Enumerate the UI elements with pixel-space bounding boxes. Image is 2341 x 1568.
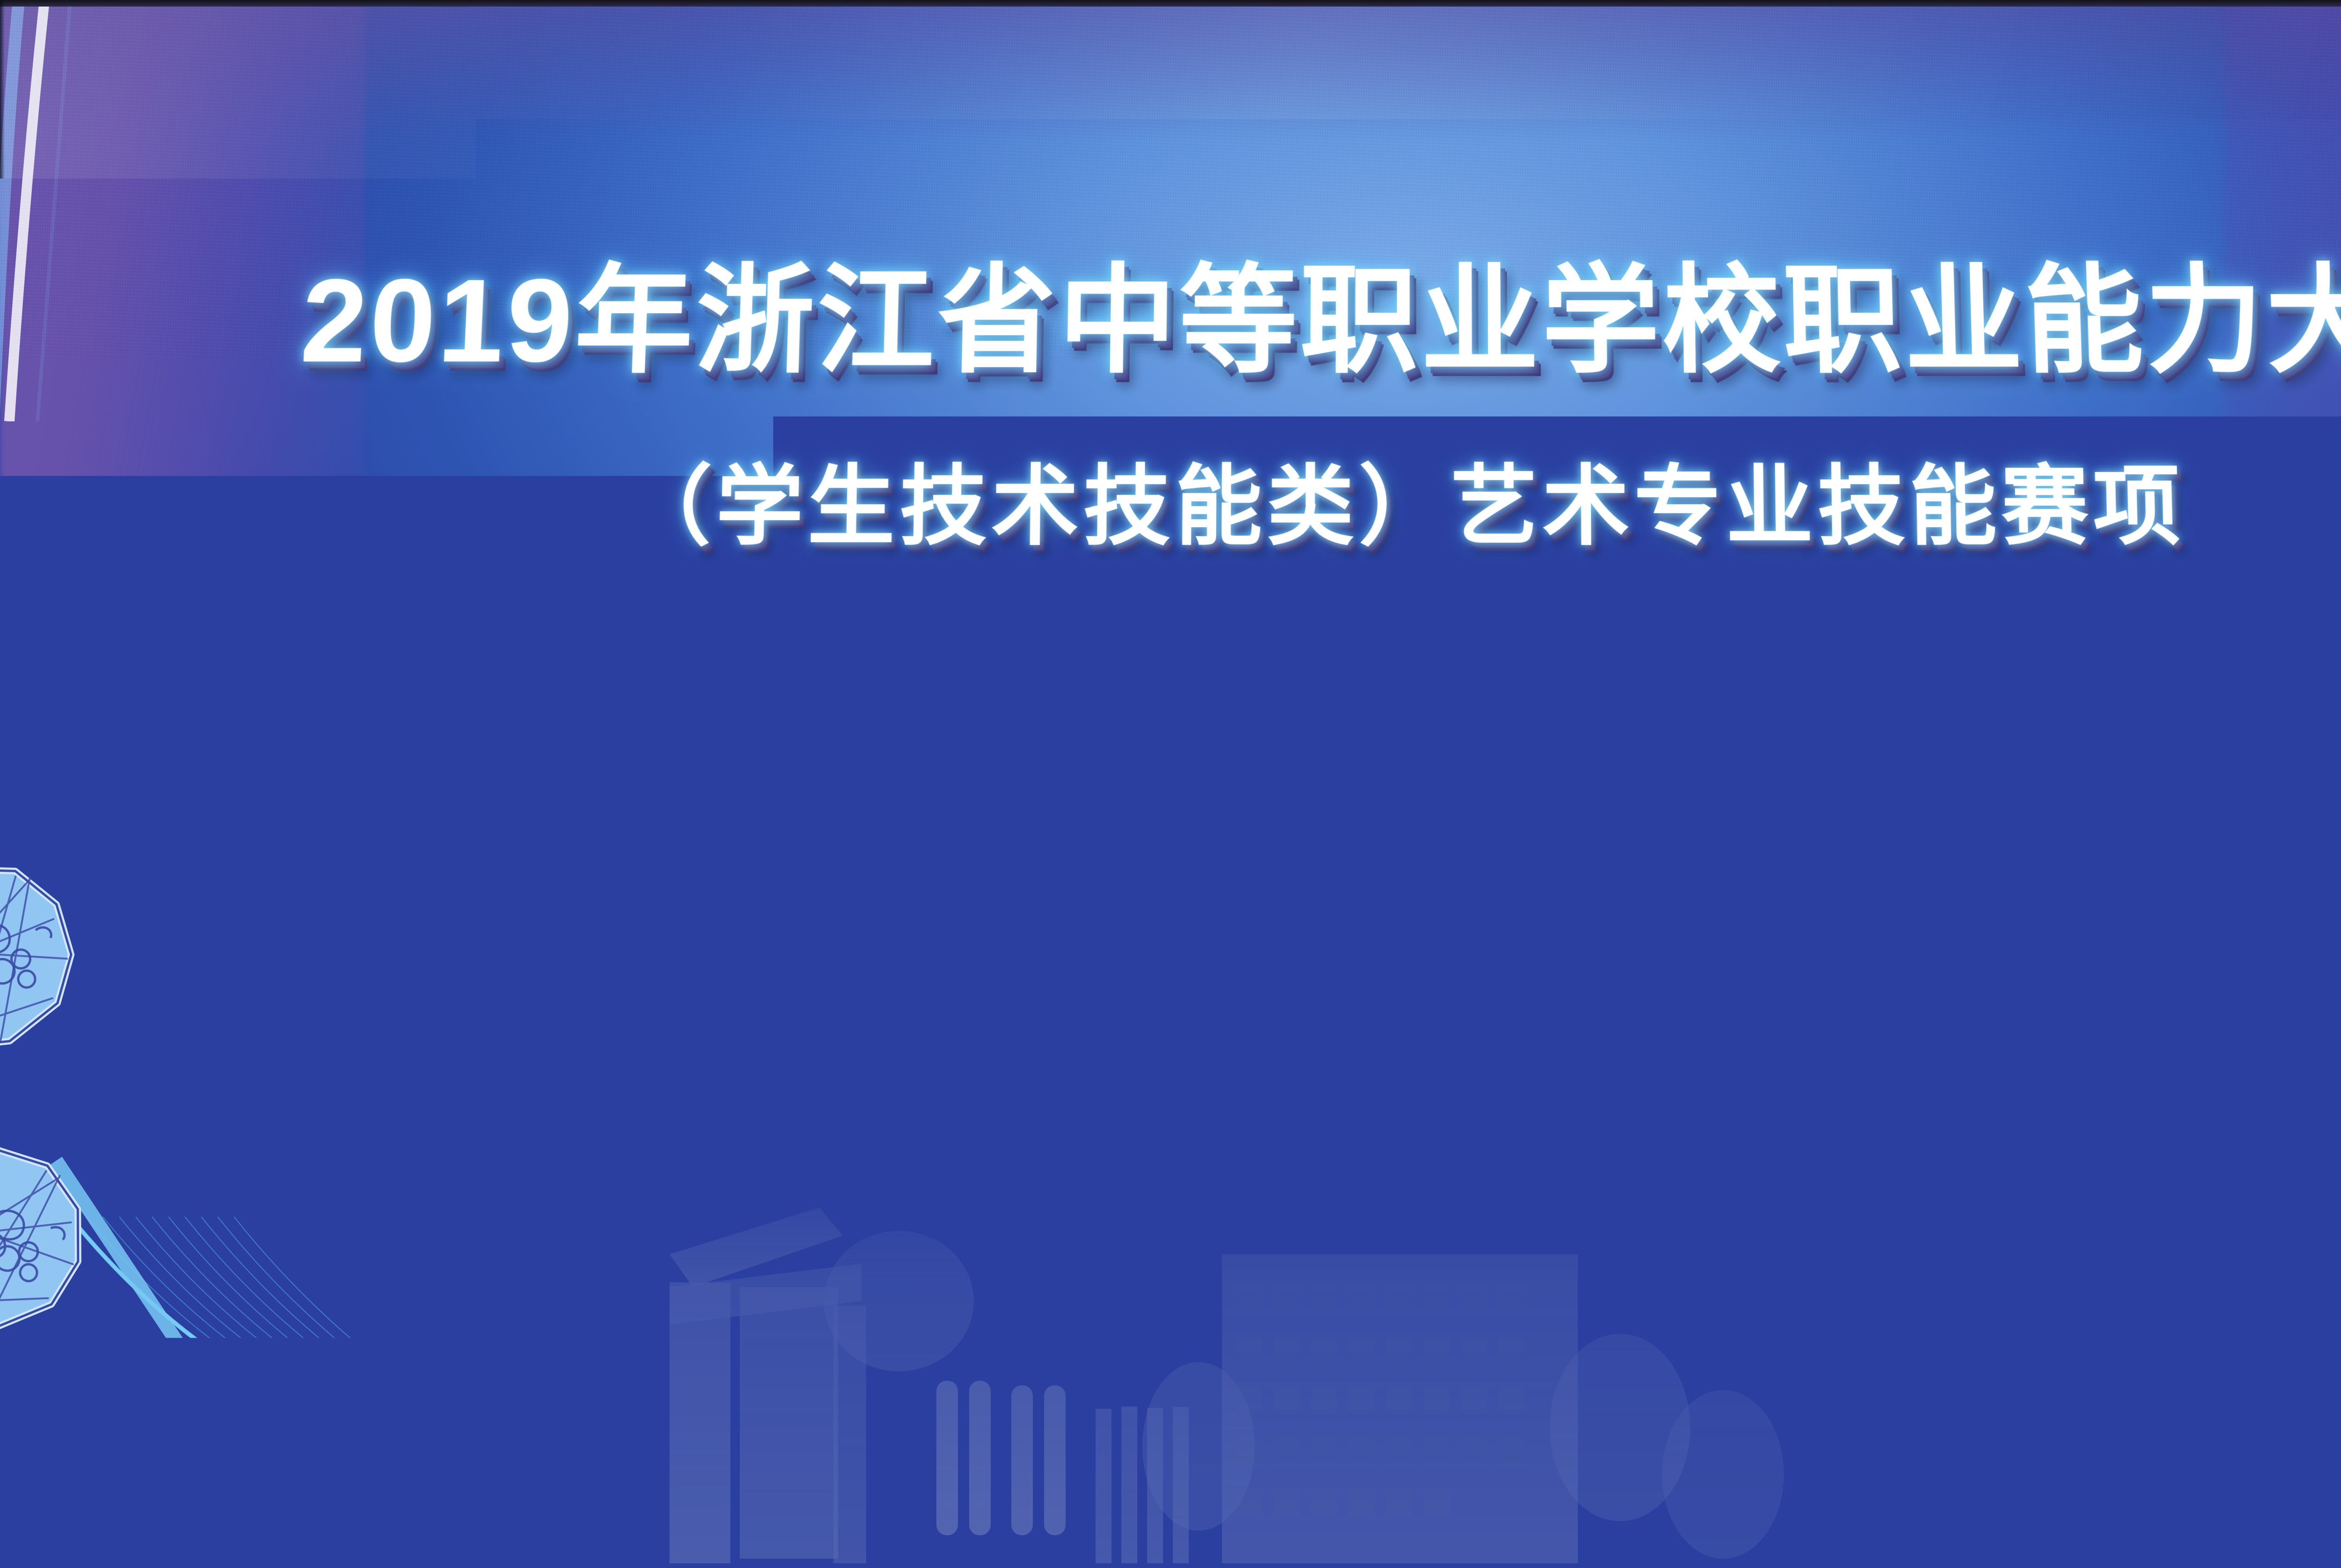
event-name: 戏曲表演: [1186, 693, 1623, 822]
banner-edge-top: [0, 0, 2341, 7]
organizer-block: 主办单位：浙江省教育厅 承办单位：浙江艺术职业学院 浙江省教育厅职成教教研室: [0, 1203, 2341, 1366]
banner-title-main: 2019年浙江省中等职业学校职业能力大赛: [298, 263, 2341, 381]
divider-rule-left: [456, 752, 1186, 763]
banner-edge-left: [0, 0, 5, 1568]
divider-rule-right: [1623, 752, 2341, 763]
banner-content: 2019年浙江省中等职业学校职业能力大赛 （学生技术技能类）艺术专业技能赛项 戏…: [0, 0, 2341, 1568]
banner-backdrop: 2019年浙江省中等职业学校职业能力大赛 （学生技术技能类）艺术专业技能赛项 戏…: [0, 0, 2341, 1568]
organizer-line-host: 主办单位：浙江省教育厅: [0, 1203, 2341, 1258]
organizer-line-undertaker: 承办单位：浙江艺术职业学院: [0, 1258, 2341, 1312]
banner-title-sub: （学生技术技能类）艺术专业技能赛项: [623, 435, 2186, 562]
organizer-line-research-office: 浙江省教育厅职成教教研室: [0, 1311, 2341, 1366]
banner-title-block: 2019年浙江省中等职业学校职业能力大赛: [0, 262, 2341, 380]
banner-title-sub-block: （学生技术技能类）艺术专业技能赛项: [0, 435, 2341, 562]
banner-edge-bottom: [0, 1559, 2341, 1568]
event-name-row: 戏曲表演: [0, 693, 2341, 822]
